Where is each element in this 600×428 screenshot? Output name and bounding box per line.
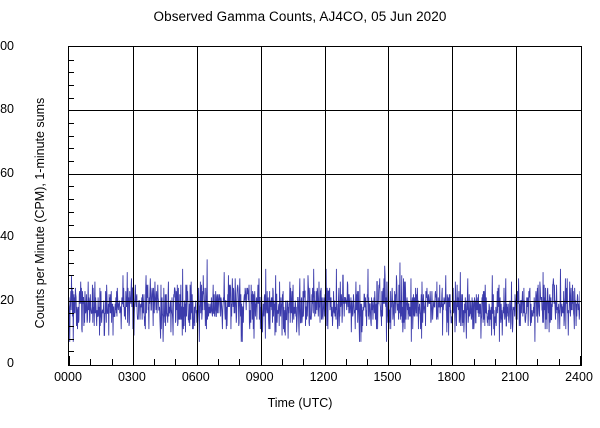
gridline-vertical: [261, 47, 262, 365]
y-axis-minor-tick: [69, 250, 74, 251]
x-axis-minor-tick: [154, 359, 155, 365]
y-axis-tick-label: 80: [0, 103, 14, 116]
y-axis-minor-tick: [69, 263, 74, 264]
y-axis-minor-tick: [69, 123, 74, 124]
x-axis-tick-label: 0600: [166, 371, 226, 384]
y-axis-minor-tick: [69, 85, 74, 86]
x-axis-major-tick: [69, 356, 70, 365]
x-axis-major-tick: [388, 356, 389, 365]
y-axis-minor-tick: [69, 275, 74, 276]
x-axis-title: Time (UTC): [0, 396, 600, 410]
x-axis-major-tick: [325, 356, 326, 365]
y-axis-title: Counts per Minute (CPM), 1-minute sums: [33, 83, 47, 343]
gridline-vertical: [325, 47, 326, 365]
x-axis-tick-label: 0900: [230, 371, 290, 384]
x-axis-minor-tick: [495, 359, 496, 365]
y-axis-minor-tick: [69, 212, 74, 213]
x-axis-minor-tick: [218, 359, 219, 365]
y-axis-tick-label: 0: [0, 357, 14, 370]
x-axis-tick-label: 0000: [38, 371, 98, 384]
x-axis-minor-tick: [175, 359, 176, 365]
plot-area: [68, 46, 582, 366]
x-axis-minor-tick: [474, 359, 475, 365]
x-axis-minor-tick: [559, 359, 560, 365]
x-axis-tick-label: 0300: [102, 371, 162, 384]
x-axis-major-tick: [261, 356, 262, 365]
x-axis-major-tick: [197, 356, 198, 365]
x-axis-tick-label: 2400: [549, 371, 600, 384]
x-axis-tick-label: 1800: [421, 371, 481, 384]
y-axis-minor-tick: [69, 225, 74, 226]
x-axis-minor-tick: [303, 359, 304, 365]
x-axis-minor-tick: [431, 359, 432, 365]
gridline-vertical: [388, 47, 389, 365]
x-axis-minor-tick: [239, 359, 240, 365]
y-axis-minor-tick: [69, 339, 74, 340]
y-axis-tick-label: 40: [0, 230, 14, 243]
x-axis-minor-tick: [282, 359, 283, 365]
x-axis-tick-label: 2100: [485, 371, 545, 384]
y-axis-minor-tick: [69, 351, 74, 352]
x-axis-tick-label: 1500: [357, 371, 417, 384]
y-axis-minor-tick: [69, 199, 74, 200]
y-axis-minor-tick: [69, 161, 74, 162]
y-axis-tick-label: 20: [0, 294, 14, 307]
gridline-vertical: [452, 47, 453, 365]
x-axis-major-tick: [580, 356, 581, 365]
x-axis-major-tick: [452, 356, 453, 365]
y-axis-minor-tick: [69, 136, 74, 137]
x-axis-tick-label: 1200: [294, 371, 354, 384]
page-title: Observed Gamma Counts, AJ4CO, 05 Jun 202…: [0, 9, 600, 24]
x-axis-minor-tick: [537, 359, 538, 365]
x-axis-minor-tick: [346, 359, 347, 365]
gridline-vertical: [133, 47, 134, 365]
x-axis-major-tick: [133, 356, 134, 365]
gridline-vertical: [516, 47, 517, 365]
y-axis-minor-tick: [69, 72, 74, 73]
y-axis-minor-tick: [69, 60, 74, 61]
y-axis-minor-tick: [69, 186, 74, 187]
y-axis-tick-label: 100: [0, 40, 14, 53]
y-axis-tick-label: 60: [0, 167, 14, 180]
gridline-vertical: [197, 47, 198, 365]
x-axis-minor-tick: [112, 359, 113, 365]
y-axis-minor-tick: [69, 148, 74, 149]
y-axis-minor-tick: [69, 326, 74, 327]
x-axis-minor-tick: [410, 359, 411, 365]
x-axis-minor-tick: [90, 359, 91, 365]
chart-page: Observed Gamma Counts, AJ4CO, 05 Jun 202…: [0, 0, 600, 428]
x-axis-minor-tick: [367, 359, 368, 365]
plot-inner: [69, 47, 581, 365]
y-axis-minor-tick: [69, 98, 74, 99]
y-axis-minor-tick: [69, 313, 74, 314]
y-axis-minor-tick: [69, 288, 74, 289]
x-axis-major-tick: [516, 356, 517, 365]
